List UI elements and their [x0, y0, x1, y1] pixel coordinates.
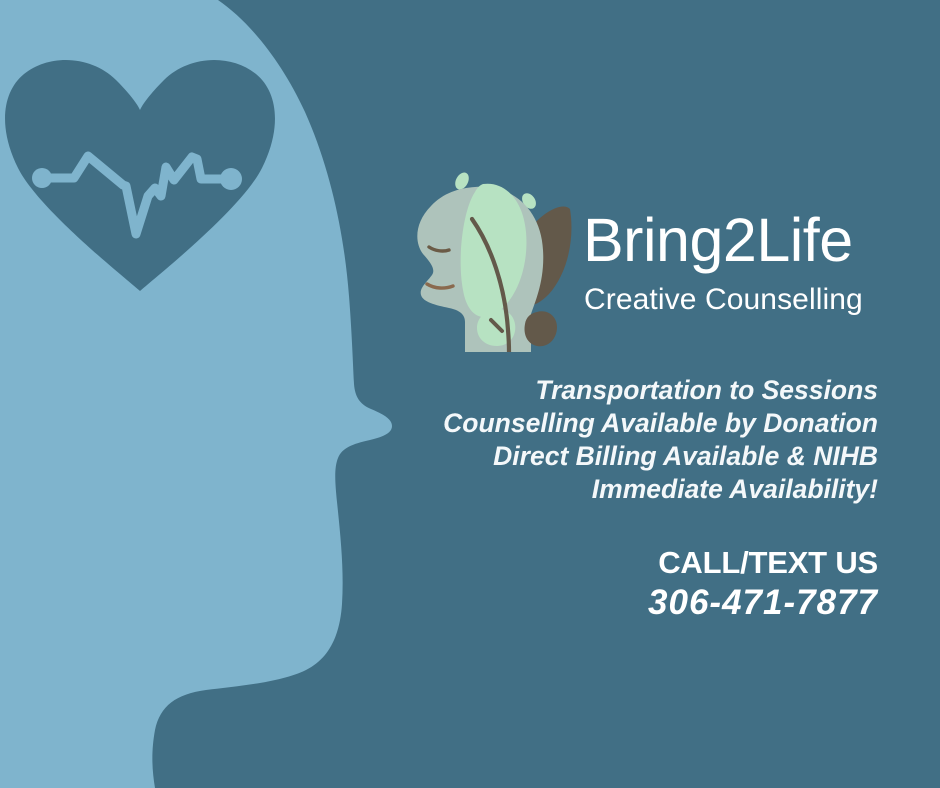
service-line: Direct Billing Available & NIHB	[443, 440, 878, 473]
brand-name: Bring2Life	[583, 210, 853, 271]
cta-phone-number[interactable]: 306-471-7877	[648, 582, 878, 624]
service-line: Immediate Availability!	[443, 473, 878, 506]
service-line: Counselling Available by Donation	[443, 407, 878, 440]
call-to-action-block: CALL/TEXT US 306-471-7877	[648, 544, 878, 624]
brand-tagline: Creative Counselling	[584, 285, 863, 315]
leaf-brown-small	[525, 311, 558, 346]
service-line: Transportation to Sessions	[443, 374, 878, 407]
cta-label: CALL/TEXT US	[648, 544, 878, 582]
brand-logo-block: Bring2Life Creative Counselling	[405, 162, 885, 352]
services-list: Transportation to Sessions Counselling A…	[443, 374, 878, 506]
heartbeat-start-dot	[32, 168, 52, 188]
poster-canvas: Bring2Life Creative Counselling Transpor…	[0, 0, 940, 788]
face-with-leaves-logo-icon	[405, 162, 580, 352]
heartbeat-end-dot	[220, 168, 242, 190]
brand-wordmark: Bring2Life Creative Counselling	[580, 162, 885, 352]
